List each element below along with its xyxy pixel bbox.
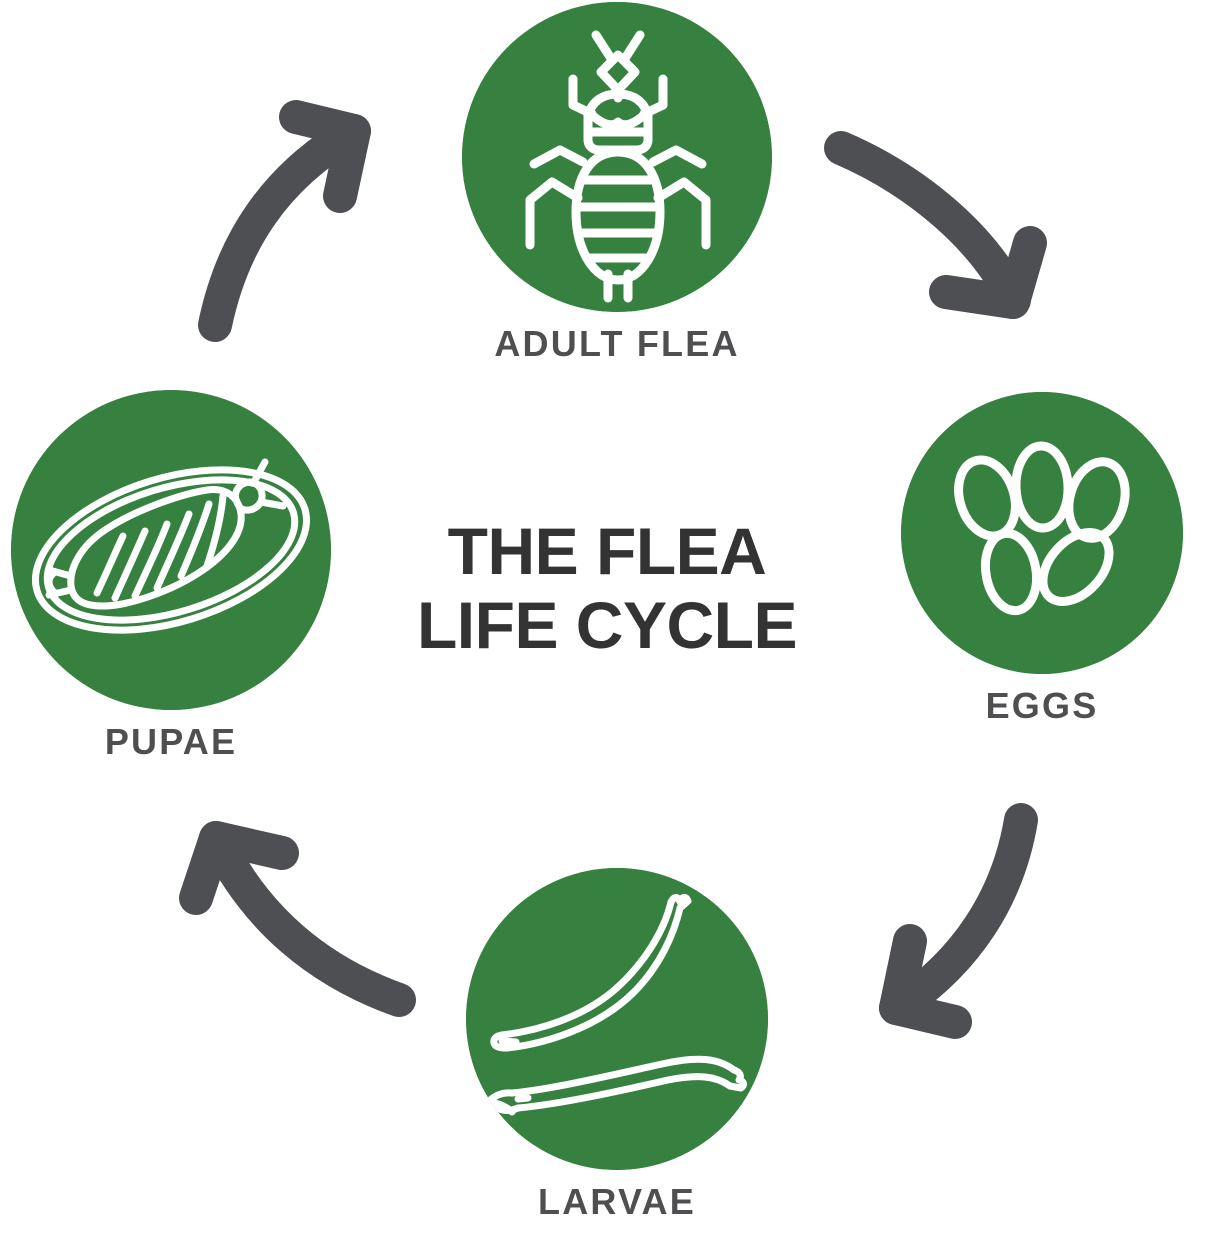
arrow-larvae-to-pupae xyxy=(196,838,399,1000)
stage-label-adult-flea: ADULT FLEA xyxy=(494,326,739,362)
diagram-title-line-1: THE FLEA xyxy=(0,515,1214,589)
larvae-circle xyxy=(466,868,768,1170)
arrow-pupae-to-adult xyxy=(215,117,354,325)
adult-flea-circle xyxy=(462,2,772,312)
arrow-adult-to-eggs xyxy=(841,148,1030,302)
flea-life-cycle-infographic: ADULT FLEA EGGS xyxy=(0,0,1214,1240)
arrow-eggs-to-larvae xyxy=(896,820,1021,1022)
stage-label-larvae: LARVAE xyxy=(538,1184,696,1220)
diagram-title-line-2: LIFE CYCLE xyxy=(0,589,1214,663)
stage-adult-flea[interactable]: ADULT FLEA xyxy=(447,2,787,362)
stage-larvae[interactable]: LARVAE xyxy=(457,868,777,1220)
stage-label-pupae: PUPAE xyxy=(105,724,237,760)
diagram-title: THE FLEA LIFE CYCLE xyxy=(0,515,1214,663)
stage-label-eggs: EGGS xyxy=(986,688,1099,724)
